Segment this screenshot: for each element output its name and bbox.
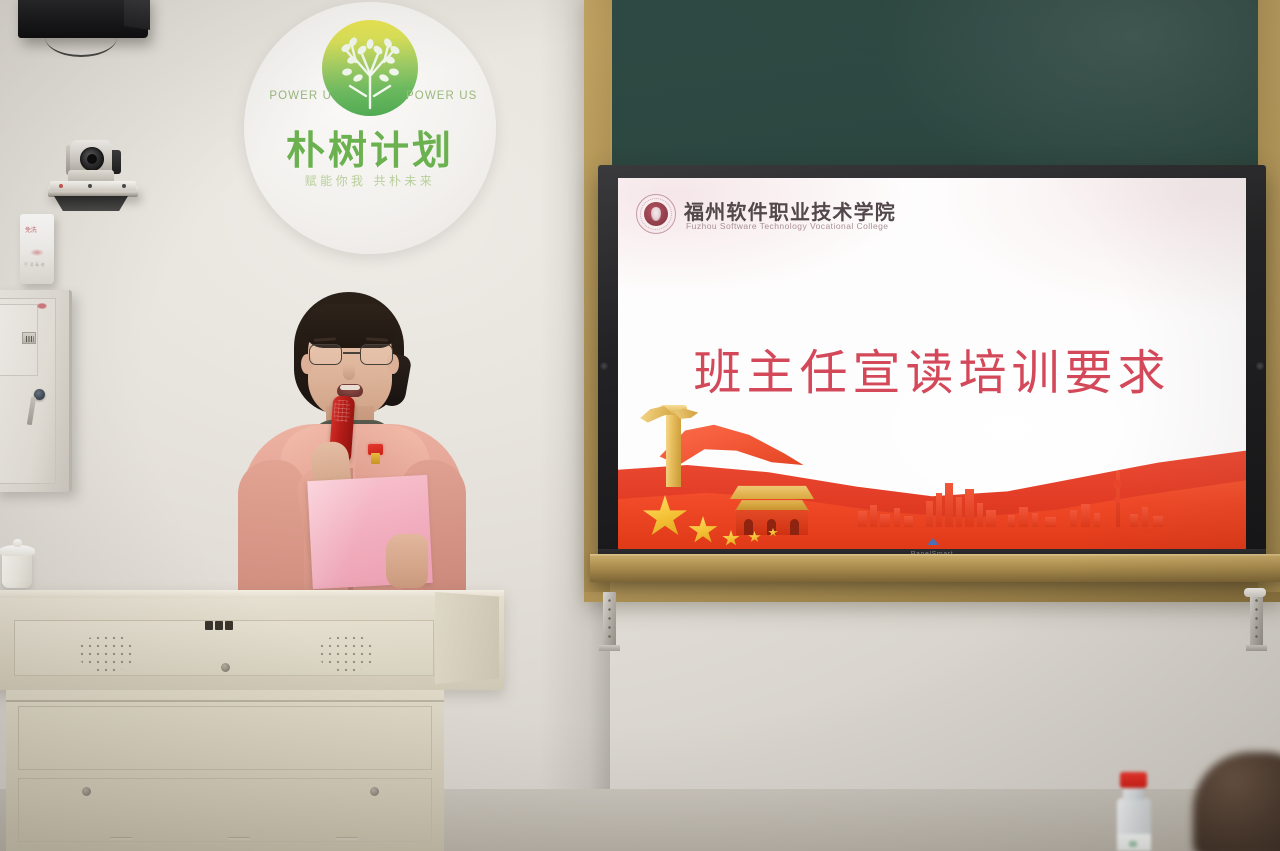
bottle-cap: [1120, 772, 1147, 788]
eyeglass-bridge: [343, 352, 360, 354]
display-ir-sensor-right-icon: [1256, 362, 1264, 370]
gate-arch: [744, 519, 753, 535]
classroom-scene: 免洗 手 消 毒 液: [0, 0, 1280, 851]
lectern-drawer-2[interactable]: [18, 778, 432, 842]
dispenser-label: 免洗: [25, 228, 51, 235]
camera-power-dot: [59, 184, 63, 188]
lectern-drawer-1[interactable]: [18, 706, 432, 770]
bottle-label-mark: [1129, 841, 1137, 847]
display-mount-bracket-left: [603, 592, 616, 648]
lectern-speaker-grille-right: [318, 634, 376, 672]
camera-led-dot: [122, 184, 126, 188]
huabiao-column-graphic: [666, 409, 681, 487]
dispenser-logo-mark: [30, 249, 44, 256]
slide-title: 班主任宣读培训要求: [618, 333, 1246, 403]
city-skyline-graphic: [848, 465, 1208, 527]
speaker-person: [238, 292, 468, 602]
gate-arch: [790, 519, 799, 535]
logo-tagline: 赋能你我 共朴未来: [244, 172, 496, 189]
wall-logo-puoshu-plan: POWER U POWER US 朴树计划 赋能你我 共朴未来: [244, 2, 496, 254]
tree-icon: [322, 20, 418, 116]
display-mount-foot-left: [599, 645, 620, 651]
school-crest-glyph-icon: [651, 207, 661, 221]
camera-mic-dot: [88, 184, 92, 188]
smart-display-screen[interactable]: 福州软件职业技术学院 Fuzhou Software Technology Vo…: [618, 178, 1246, 549]
water-bottle: [1113, 772, 1153, 851]
display-ir-sensor-left-icon: [600, 362, 608, 370]
lectern-vent-slot: [228, 837, 250, 840]
display-home-caret-icon[interactable]: [927, 538, 939, 545]
lectern-vent-slot: [110, 837, 132, 840]
person-nose: [343, 364, 355, 380]
lectern-speaker-grille-left: [78, 634, 136, 672]
lectern-panel-lock-icon[interactable]: [221, 663, 230, 672]
person-arm-left: [238, 460, 304, 602]
chalk-tray: [590, 556, 1280, 582]
lectern-drawer-lock-right[interactable]: [370, 787, 379, 796]
projector-side-panel: [124, 0, 150, 30]
eyeglasses-icon: [308, 344, 394, 366]
gate-roof-upper: [722, 483, 822, 499]
panel-meter-display: [22, 332, 36, 344]
person-teeth: [340, 385, 360, 390]
lectern-top-lip: [0, 590, 504, 598]
logo-power-left-text: POWER U: [262, 90, 332, 102]
bottle-neck: [1123, 787, 1144, 800]
lectern-vent-slot: [336, 837, 358, 840]
display-mount-bracket-right: [1250, 592, 1263, 648]
badge-gold-plate: [371, 453, 380, 464]
lectern-brand-mark: [205, 620, 239, 631]
logo-power-right-text: POWER US: [406, 90, 486, 102]
display-cable-conduit: [1244, 588, 1266, 597]
person-hand-holding-paper: [386, 534, 428, 588]
presentation-slide: 福州软件职业技术学院 Fuzhou Software Technology Vo…: [618, 178, 1246, 549]
microphone-grille: [333, 399, 350, 422]
teacup-body: [2, 552, 32, 588]
slide-tint-top-right: [926, 178, 1246, 318]
teacup-lid-knob: [13, 539, 22, 547]
display-mount-foot-right: [1246, 645, 1267, 651]
eyeglass-lens-right: [360, 344, 393, 365]
eyeglass-lens-left: [309, 344, 342, 365]
logo-chinese-name: 朴树计划: [244, 120, 496, 176]
party-emblem-badge-icon: [368, 444, 383, 464]
tiananmen-gate-graphic: [722, 483, 822, 535]
panel-warning-sticker-icon: [37, 303, 47, 309]
lectern-cabinet-seam: [6, 700, 444, 702]
camera-shelf-bracket: [54, 196, 128, 211]
lectern-drawer-lock-left[interactable]: [82, 787, 91, 796]
lectern-side-panel: [435, 592, 499, 684]
camera-lens-icon: [87, 154, 97, 164]
school-name-english: Fuzhou Software Technology Vocational Co…: [686, 221, 889, 231]
dispenser-sublabel: 手 消 毒 液: [24, 262, 52, 267]
